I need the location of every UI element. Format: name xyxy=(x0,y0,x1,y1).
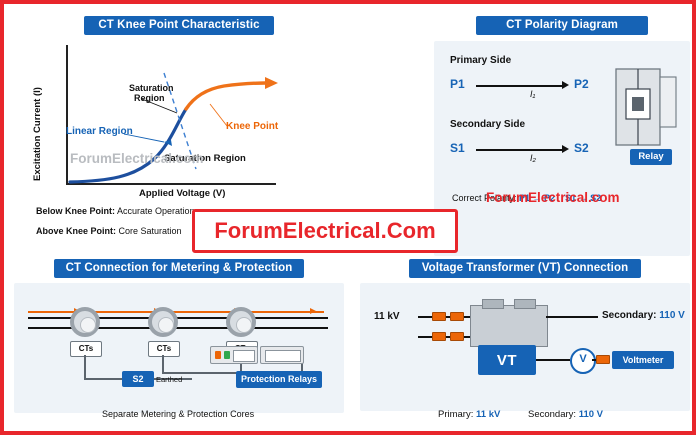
vt-footer-primary-label: Primary: xyxy=(438,409,473,420)
secondary-side-heading: Secondary Side xyxy=(450,119,525,130)
panel-ct-polarity: CT Polarity Diagram Primary Side P1 P2 I… xyxy=(434,16,690,256)
note-above-knee-text: Core Saturation xyxy=(119,226,182,236)
vt-footer-secondary-value: 110 V xyxy=(579,409,603,420)
meter-fuse xyxy=(596,355,610,364)
ct-ring-3 xyxy=(226,307,256,337)
panel-ct-knee-point-title: CT Knee Point Characteristic xyxy=(84,16,274,35)
vt-footer-primary: Primary: 11 kV xyxy=(438,409,500,420)
fuse-3 xyxy=(432,332,446,341)
note-below-knee: Below Knee Point: Accurate Operation xyxy=(36,206,195,216)
ct-ring-2 xyxy=(148,307,178,337)
secondary-label-text: Secondary: xyxy=(602,310,656,321)
vt-bushing-1 xyxy=(482,299,504,309)
terminal-p2: P2 xyxy=(574,77,589,91)
note-below-knee-text: Accurate Operation xyxy=(117,206,195,216)
voltmeter-symbol: V xyxy=(570,348,596,374)
panel-vt-connection: Voltage Transformer (VT) Connection 11 k… xyxy=(360,259,690,431)
protection-relays-box: Protection Relays xyxy=(236,371,322,388)
note-above-knee-bold: Above Knee Point: xyxy=(36,226,116,236)
panel-vt-connection-title: Voltage Transformer (VT) Connection xyxy=(409,259,641,278)
ct-ring-1 xyxy=(70,307,100,337)
primary-current-line xyxy=(476,85,564,87)
secondary-voltage-value: 110 V xyxy=(659,310,685,321)
flow-arrow-4 xyxy=(310,308,316,314)
vt-secondary-line xyxy=(546,316,598,318)
current-i2-label: I₂ xyxy=(530,153,536,163)
vt-bushing-2 xyxy=(514,299,536,309)
panel-ct-polarity-title: CT Polarity Diagram xyxy=(476,16,648,35)
ct-label-2: CTs xyxy=(148,341,180,357)
terminal-p1: P1 xyxy=(450,77,465,91)
primary-side-heading: Primary Side xyxy=(450,55,511,66)
secondary-label: Secondary: 110 V xyxy=(602,310,685,321)
s2-box: S2 xyxy=(122,371,154,387)
wire-ct2-down xyxy=(162,355,164,373)
secondary-current-line xyxy=(476,149,564,151)
current-i1-label: I₁ xyxy=(530,89,535,99)
center-watermark: ForumElectrical.Com xyxy=(192,209,458,253)
ct-connection-body: CTs CTs CTs S2 Earthed Protectio xyxy=(14,283,344,413)
panel1-watermark: ForumElectrical.com xyxy=(70,151,204,166)
terminal-s2: S2 xyxy=(574,141,589,155)
saturation-region-callout-line1: Saturation xyxy=(129,83,174,93)
vt-connection-body: 11 kV Secondary: 110 V VT V xyxy=(360,283,690,411)
panel2-watermark: ForumElectrical.com xyxy=(486,190,620,205)
linear-region-label: Linear Region xyxy=(66,126,133,137)
voltmeter-box: Voltmeter xyxy=(612,351,674,369)
knee-curve xyxy=(14,41,344,201)
fuse-1 xyxy=(432,312,446,321)
primary-current-arrow xyxy=(562,81,569,89)
fuse-4 xyxy=(450,332,464,341)
fuse-2 xyxy=(450,312,464,321)
saturation-region-callout-line2: Region xyxy=(134,93,165,103)
vt-footer-secondary-label: Secondary: xyxy=(528,409,576,420)
panel-ct-connection: CT Connection for Metering & Protection … xyxy=(14,259,344,431)
metering-device xyxy=(210,346,258,364)
ct-polarity-body: Primary Side P1 P2 I₁ Secondary Side S1 … xyxy=(434,41,690,256)
vt-footer-primary-value: 11 kV xyxy=(476,409,500,420)
vt-enclosure xyxy=(470,305,548,347)
panel-ct-connection-title: CT Connection for Metering & Protection xyxy=(54,259,304,278)
metering-device-2 xyxy=(260,346,304,364)
knee-point-label: Knee Point xyxy=(226,121,278,132)
terminal-s1: S1 xyxy=(450,141,465,155)
ct-label-1: CTs xyxy=(70,341,102,357)
knee-point-chart: Excitation Current (I) Applied Voltage (… xyxy=(14,41,344,201)
diagram-page: CT Knee Point Characteristic Excitation … xyxy=(0,0,696,435)
note-above-knee: Above Knee Point: Core Saturation xyxy=(36,226,182,236)
wire-ct1-down xyxy=(84,355,86,379)
primary-voltage-label: 11 kV xyxy=(374,311,400,322)
relay-box: Relay xyxy=(630,149,672,165)
note-below-knee-bold: Below Knee Point: xyxy=(36,206,115,216)
vt-footer-secondary: Secondary: 110 V xyxy=(528,409,603,420)
secondary-current-arrow xyxy=(562,145,569,153)
s2-earthed-label: Earthed xyxy=(156,375,182,384)
vt-box: VT xyxy=(478,345,536,375)
ct-connection-caption: Separate Metering & Protection Cores xyxy=(102,409,254,419)
vt-to-meter-line xyxy=(536,359,570,361)
